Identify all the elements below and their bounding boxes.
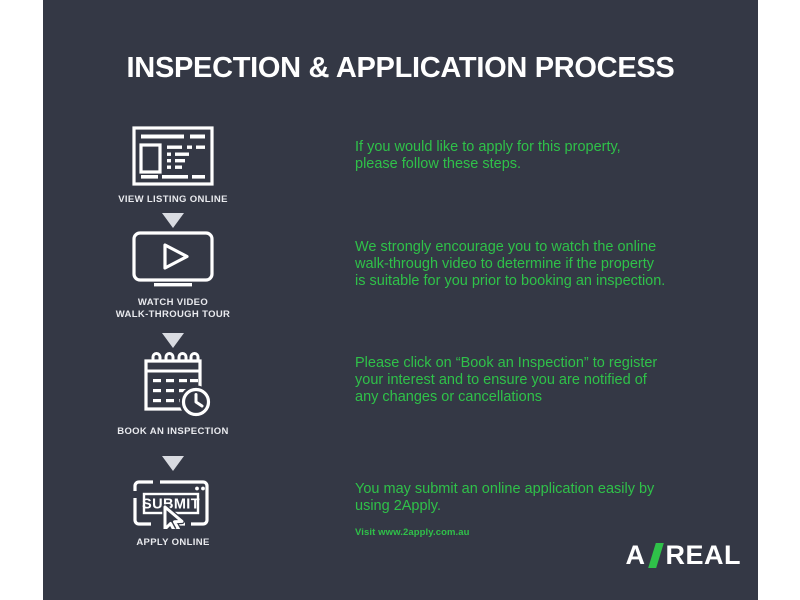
logo-slash-icon — [648, 543, 664, 568]
step-label: APPLY ONLINE — [43, 537, 303, 549]
flow-arrow-down-icon — [43, 213, 303, 228]
submit-cursor-icon: SUBMIT — [43, 479, 303, 529]
flow-arrow-down-icon — [43, 333, 303, 348]
step-label: VIEW LISTING ONLINE — [43, 194, 303, 206]
step-note: Please click on “Book an Inspection” to … — [355, 355, 705, 406]
step-label: WATCH VIDEO WALK-THROUGH TOUR — [43, 297, 303, 321]
step-label: BOOK AN INSPECTION — [43, 426, 303, 438]
step-note: You may submit an online application eas… — [355, 481, 705, 515]
calendar-clock-icon — [43, 352, 303, 418]
step-apply-online: SUBMIT APPLY ONLINE — [43, 479, 303, 549]
logo-text-left: A — [626, 542, 646, 569]
step-note: We strongly encourage you to watch the o… — [355, 239, 705, 290]
step-book-inspection: BOOK AN INSPECTION — [43, 352, 303, 438]
step-watch-video: WATCH VIDEO WALK-THROUGH TOUR — [43, 231, 303, 321]
video-play-icon — [43, 231, 303, 289]
listing-window-icon — [43, 126, 303, 186]
step-view-listing-online: VIEW LISTING ONLINE — [43, 126, 303, 206]
flow-arrow-down-icon — [43, 456, 303, 471]
logo-text-right: REAL — [666, 542, 742, 569]
step-note: If you would like to apply for this prop… — [355, 139, 705, 173]
poster-panel: INSPECTION & APPLICATION PROCESS — [43, 0, 758, 600]
brand-logo: A REAL — [623, 539, 758, 571]
page-title: INSPECTION & APPLICATION PROCESS — [43, 52, 758, 85]
visit-link[interactable]: Visit www.2apply.com.au — [355, 527, 705, 538]
